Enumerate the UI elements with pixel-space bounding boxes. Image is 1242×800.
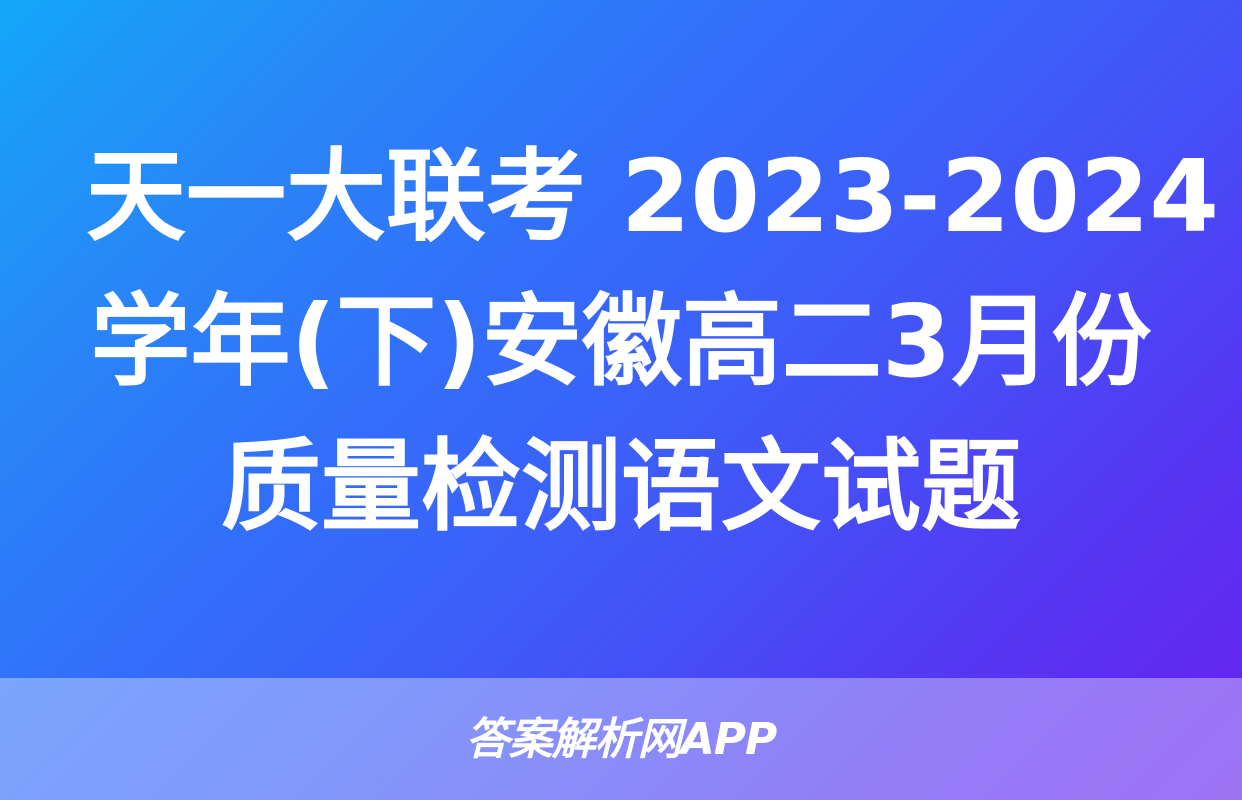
hero-section: 天一大联考 2023-2024 学年(下)安徽高二3月份 质量检测语文试题 xyxy=(0,0,1242,678)
title-line-1: 天一大联考 2023-2024 xyxy=(86,124,1156,269)
title-line-3: 质量检测语文试题 xyxy=(86,414,1156,559)
watermark-bar: 答案解析网APP xyxy=(0,678,1242,800)
page-title: 天一大联考 2023-2024 学年(下)安徽高二3月份 质量检测语文试题 xyxy=(86,124,1156,559)
watermark-brand-label: 答案解析网APP xyxy=(466,718,777,762)
poster-card: 天一大联考 2023-2024 学年(下)安徽高二3月份 质量检测语文试题 答案… xyxy=(0,0,1242,800)
title-line-2: 学年(下)安徽高二3月份 xyxy=(86,269,1156,414)
